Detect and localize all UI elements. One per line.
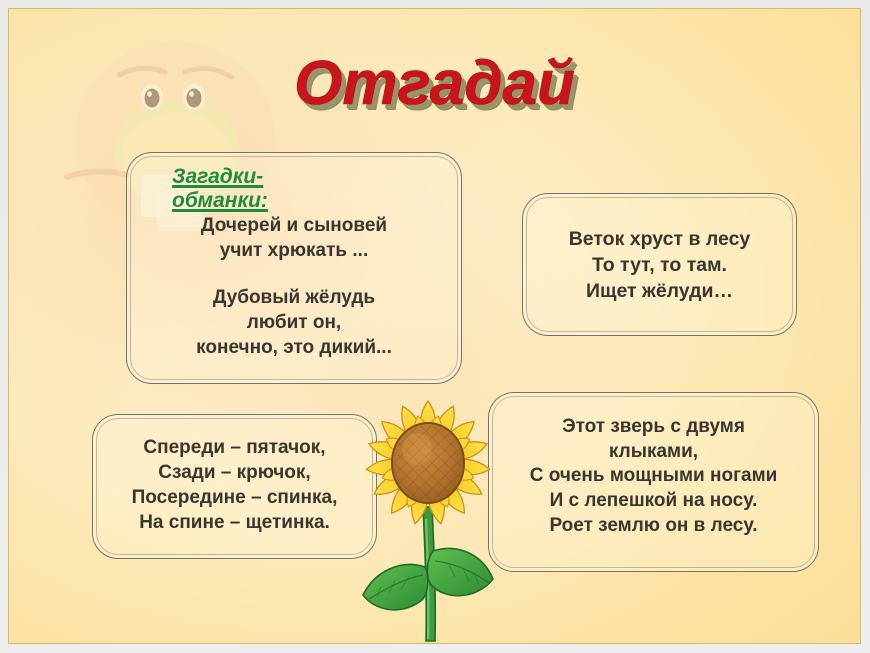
- riddle-text-piglet: Спереди – пятачок, Сзади – крючок, Посер…: [93, 435, 376, 535]
- slide-canvas: Отгадай Загадки- обманки: Дочерей и сыно…: [8, 8, 861, 644]
- slide-root: Отгадай Загадки- обманки: Дочерей и сыно…: [0, 0, 870, 653]
- riddle-box-trick-riddles: Загадки- обманки: Дочерей и сыновей учит…: [126, 152, 462, 384]
- riddle-box-squirrel: Веток хруст в лесу То тут, то там. Ищет …: [522, 193, 797, 336]
- page-title: Отгадай: [9, 53, 860, 115]
- riddle-text-squirrel: Веток хруст в лесу То тут, то там. Ищет …: [523, 227, 796, 305]
- riddles-stanza-two: Дубовый жёлудь любит он, конечно, это ди…: [127, 286, 461, 360]
- riddle-box-boar: Этот зверь с двумя клыками, С очень мощн…: [488, 392, 819, 572]
- riddle-box-piglet: Спереди – пятачок, Сзади – крючок, Посер…: [92, 414, 377, 559]
- riddles-heading: Загадки- обманки:: [172, 165, 312, 212]
- riddles-stanza-one: Дочерей и сыновей учит хрюкать ...: [127, 214, 461, 263]
- riddle-text-boar: Этот зверь с двумя клыками, С очень мощн…: [489, 415, 818, 538]
